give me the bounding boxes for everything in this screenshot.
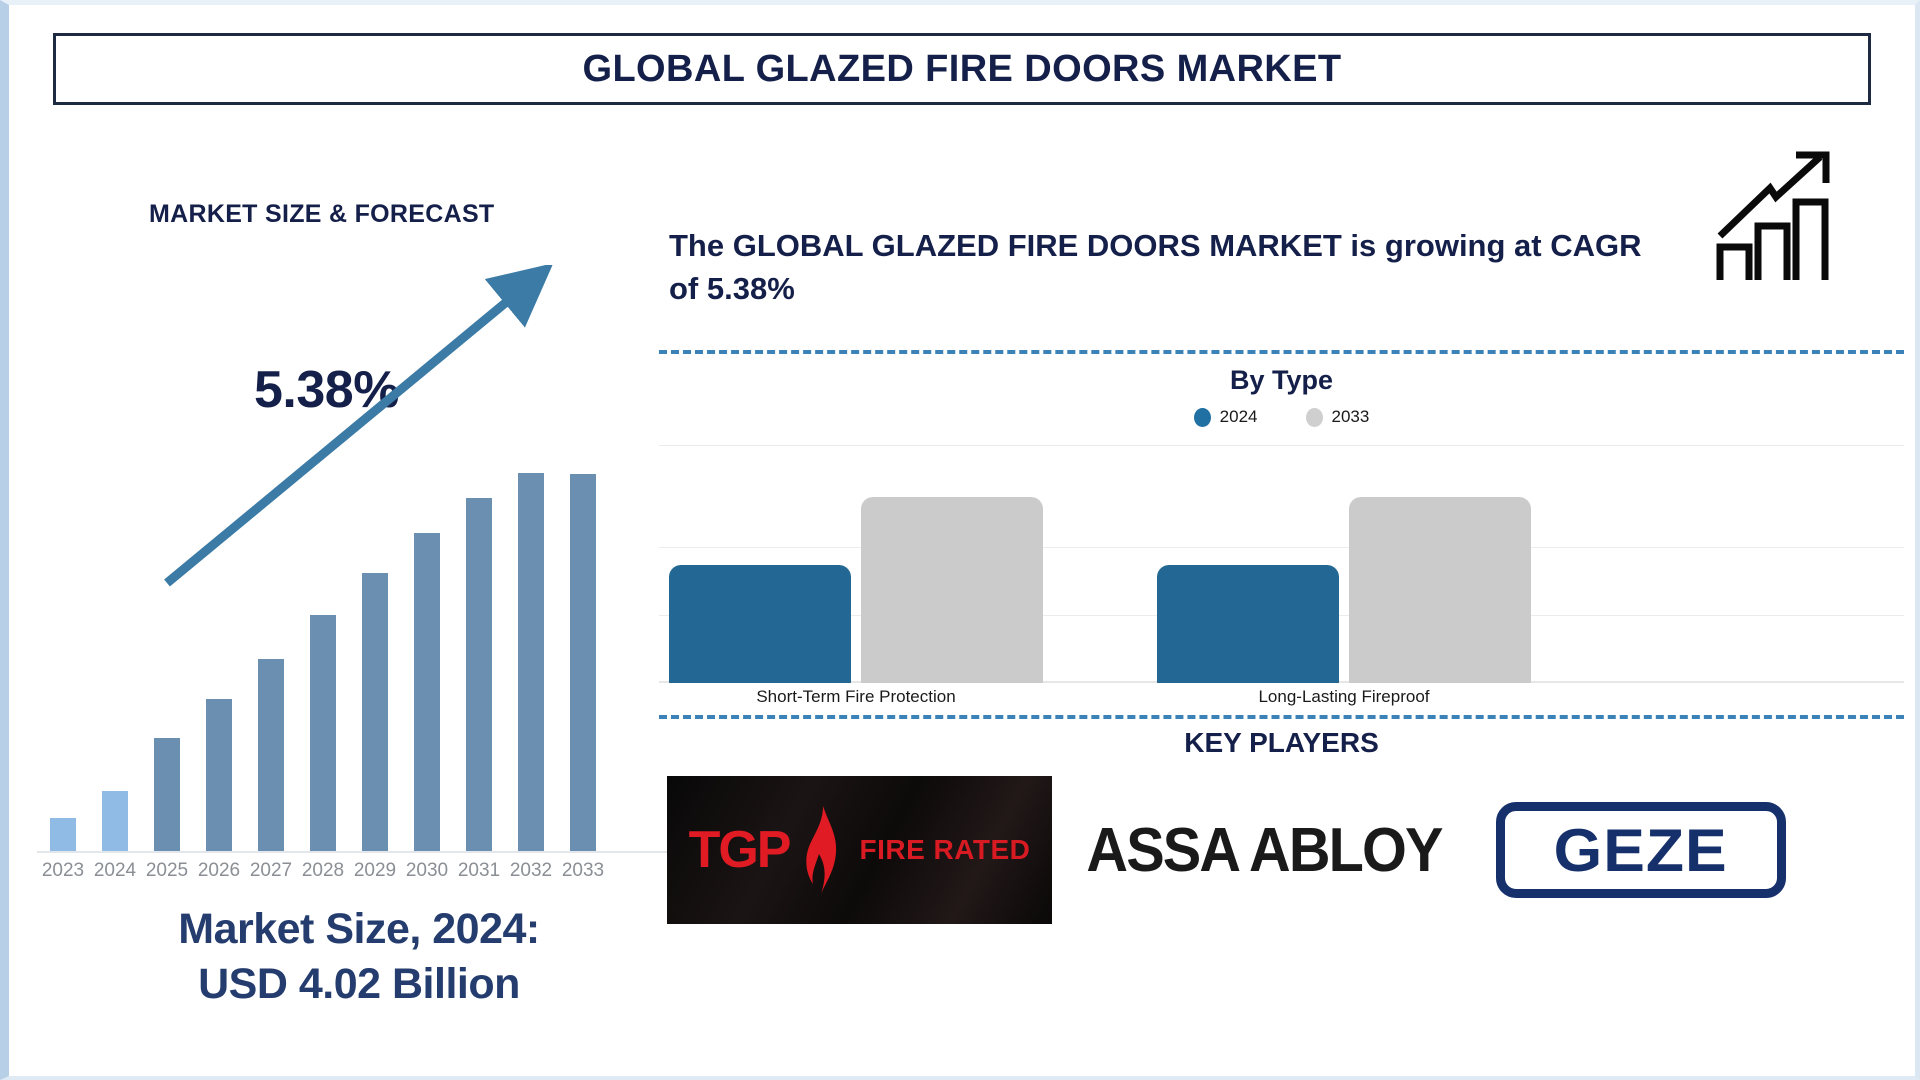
x-label-2023: 2023 <box>37 860 89 882</box>
x-label-2033: 2033 <box>557 860 609 882</box>
bar-short-term-2033 <box>861 497 1043 683</box>
tgp-tagline: FIRE RATED <box>859 834 1030 866</box>
legend-item-2024: 2024 <box>1194 407 1258 427</box>
x-label-2026: 2026 <box>193 860 245 882</box>
market-size-forecast-chart <box>37 433 697 853</box>
bar-slot <box>505 431 557 851</box>
legend-item-2033: 2033 <box>1306 407 1370 427</box>
bar-2024 <box>102 791 128 851</box>
bar-long-lasting-2033 <box>1349 497 1531 683</box>
page-title: GLOBAL GLAZED FIRE DOORS MARKET <box>582 48 1341 91</box>
key-players-title: KEY PLAYERS <box>659 727 1904 759</box>
divider-bottom <box>659 715 1904 719</box>
bar-2026 <box>206 699 232 851</box>
bar-2027 <box>258 659 284 851</box>
flame-icon <box>799 804 843 896</box>
growth-bar-chart-arrow-icon <box>1704 140 1839 285</box>
legend-dot-icon <box>1194 408 1211 427</box>
geze-wordmark: GEZE <box>1554 816 1728 885</box>
bar-2030 <box>414 533 440 851</box>
divider-top <box>659 350 1904 354</box>
bar-2028 <box>310 615 336 851</box>
bar-slot <box>401 431 453 851</box>
bar-2025 <box>154 738 180 851</box>
logo-tgp-fire-rated: TGP FIRE RATED <box>667 776 1052 924</box>
chart-x-axis-labels: 2023 2024 2025 2026 2027 2028 2029 2030 … <box>37 860 697 890</box>
bar-long-lasting-2024 <box>1157 565 1339 683</box>
bar-slot <box>37 431 89 851</box>
x-label-long-lasting-fireproof: Long-Lasting Fireproof <box>1157 687 1531 707</box>
bar-slot <box>297 431 349 851</box>
market-size-value: USD 4.02 Billion <box>49 960 669 1009</box>
market-size-label: Market Size, 2024: <box>49 905 669 954</box>
x-label-2025: 2025 <box>141 860 193 882</box>
x-label-2027: 2027 <box>245 860 297 882</box>
x-label-2030: 2030 <box>401 860 453 882</box>
infographic-page: GLOBAL GLAZED FIRE DOORS MARKET MARKET S… <box>0 0 1920 1080</box>
x-label-2031: 2031 <box>453 860 505 882</box>
tgp-wordmark: TGP <box>689 820 790 880</box>
bar-2033 <box>570 474 596 851</box>
left-panel: MARKET SIZE & FORECAST 5.38% <box>9 115 739 1075</box>
x-label-2024: 2024 <box>89 860 141 882</box>
gridline <box>659 547 1904 548</box>
market-size-summary: Market Size, 2024: USD 4.02 Billion <box>49 905 669 1009</box>
legend-label-2033: 2033 <box>1332 407 1370 427</box>
bar-2032 <box>518 473 544 851</box>
legend-label-2024: 2024 <box>1220 407 1258 427</box>
x-label-short-term-fire-protection: Short-Term Fire Protection <box>669 687 1043 707</box>
bar-2031 <box>466 498 492 851</box>
legend-dot-icon <box>1306 408 1323 427</box>
cagr-statement: The GLOBAL GLAZED FIRE DOORS MARKET is g… <box>669 225 1669 311</box>
bar-slot <box>557 431 609 851</box>
logo-geze: GEZE <box>1496 802 1786 898</box>
by-type-legend: 2024 2033 <box>659 407 1904 427</box>
title-box: GLOBAL GLAZED FIRE DOORS MARKET <box>53 33 1871 105</box>
bar-slot <box>453 431 505 851</box>
x-label-2032: 2032 <box>505 860 557 882</box>
right-panel: The GLOBAL GLAZED FIRE DOORS MARKET is g… <box>659 115 1920 1075</box>
bar-2029 <box>362 573 388 851</box>
bar-short-term-2024 <box>669 565 851 683</box>
chart-baseline <box>37 851 697 853</box>
bar-slot <box>141 431 193 851</box>
x-label-2029: 2029 <box>349 860 401 882</box>
bar-slot <box>245 431 297 851</box>
by-type-title: By Type <box>659 365 1904 396</box>
x-label-2028: 2028 <box>297 860 349 882</box>
bar-2023 <box>50 818 76 851</box>
market-size-forecast-heading: MARKET SIZE & FORECAST <box>149 200 495 229</box>
bar-slot <box>349 431 401 851</box>
key-players-logo-row: TGP FIRE RATED ASSA ABLOY GEZE <box>659 770 1909 930</box>
bar-slot <box>193 431 245 851</box>
by-type-chart <box>659 445 1904 683</box>
logo-assa-abloy: ASSA ABLOY <box>1078 815 1450 886</box>
gridline <box>659 445 1904 446</box>
bar-slot <box>89 431 141 851</box>
tgp-logo-inner: TGP FIRE RATED <box>689 804 1031 896</box>
